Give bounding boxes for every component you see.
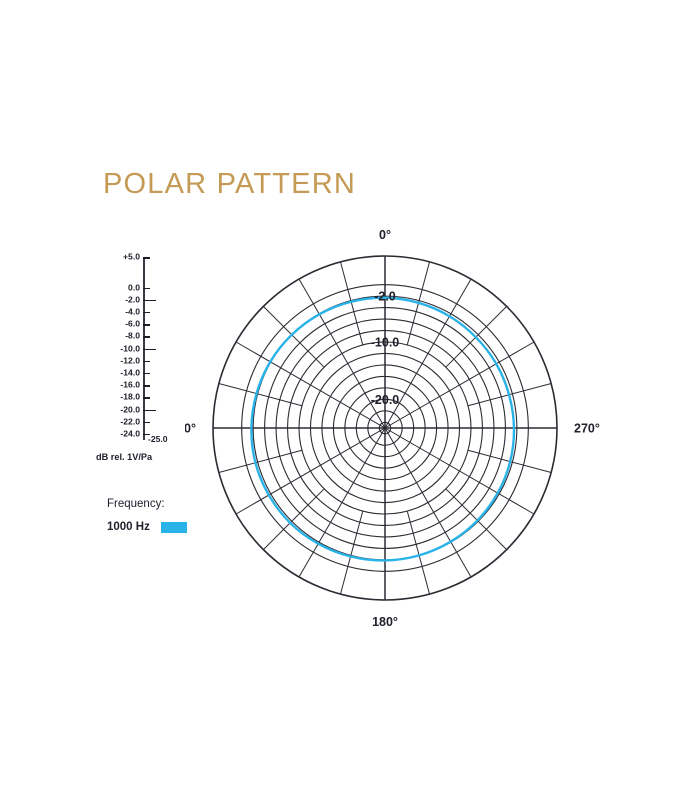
db-scale-tick <box>143 288 150 290</box>
db-scale-bottom-label: -25.0 <box>148 434 168 444</box>
polar-ring-label: -20.0 <box>371 393 400 407</box>
polar-grid-spokes <box>213 256 557 600</box>
db-scale-tick <box>143 422 150 424</box>
db-scale-tick-label: -12.0 <box>120 356 140 365</box>
polar-angle-label-90deg: 90° <box>185 422 196 436</box>
polar-angle-label-270deg: 270° <box>574 422 600 436</box>
db-scale-tick-label: -6.0 <box>125 320 140 329</box>
db-scale-tick <box>143 410 156 412</box>
db-scale-tick <box>143 324 150 326</box>
polar-grid-spoke <box>219 450 302 472</box>
db-scale-tick-label: -8.0 <box>125 332 140 341</box>
db-scale-tick-label: -10.0 <box>120 344 140 353</box>
db-scale-tick <box>143 312 150 314</box>
polar-grid-spoke <box>385 428 471 577</box>
polar-pattern-chart: -2.0-10.0-20.0 0°90°180°270° <box>185 228 615 638</box>
polar-ring-label: -10.0 <box>371 336 400 350</box>
db-scale-tick <box>143 373 150 375</box>
db-scale-tick-label: -14.0 <box>120 369 140 378</box>
db-scale-tick <box>143 257 150 259</box>
db-scale-tick-label: +5.0 <box>123 253 140 262</box>
polar-grid-spoke <box>340 511 362 594</box>
frequency-legend-color-swatch <box>161 522 187 533</box>
db-scale-tick-label: -24.0 <box>120 430 140 439</box>
polar-grid-spoke <box>446 489 507 550</box>
db-scale-tick <box>143 385 150 387</box>
db-scale-tick-label: 0.0 <box>128 283 140 292</box>
polar-chart-svg: -2.0-10.0-20.0 0°90°180°270° <box>185 228 615 638</box>
db-scale-tick-label: -2.0 <box>125 295 140 304</box>
db-scale-tick-label: -18.0 <box>120 393 140 402</box>
db-scale-tick <box>143 300 156 302</box>
polar-grid-spoke <box>385 428 534 514</box>
db-scale-tick-label: -4.0 <box>125 308 140 317</box>
db-scale-tick-label: -22.0 <box>120 417 140 426</box>
polar-grid-spoke <box>385 342 534 428</box>
polar-ring-label: -2.0 <box>374 290 396 304</box>
db-scale-tick-label: -20.0 <box>120 405 140 414</box>
db-scale-tick <box>143 349 156 351</box>
db-scale-tick <box>143 361 150 363</box>
db-scale-tick-label: -16.0 <box>120 381 140 390</box>
db-scale-tick <box>143 397 150 399</box>
frequency-legend-value: 1000 Hz <box>107 521 150 533</box>
polar-angle-label-180deg: 180° <box>372 615 398 629</box>
polar-grid-spoke <box>219 383 302 405</box>
page-title: POLAR PATTERN <box>103 168 356 201</box>
db-scale-units-label: dB rel. 1V/Pa <box>96 452 152 462</box>
polar-angle-label-0deg: 0° <box>379 228 391 242</box>
db-scale-tick <box>143 336 150 338</box>
